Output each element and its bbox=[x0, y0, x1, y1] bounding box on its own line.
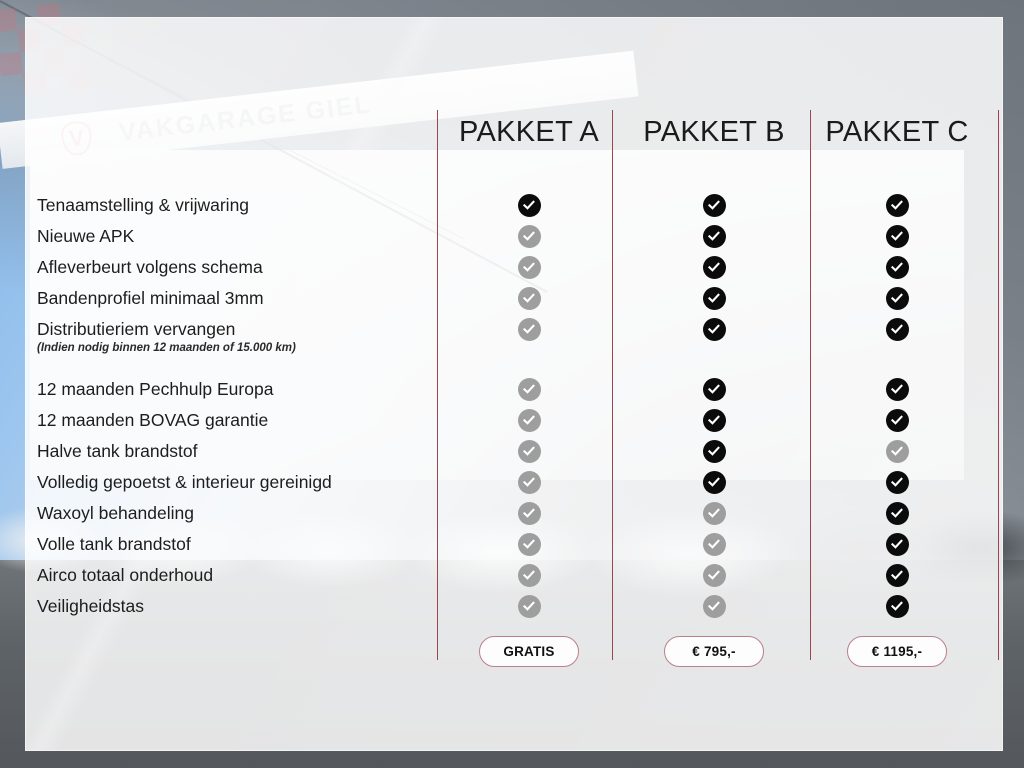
check-pakket-b-12-maanden-bovag-garantie bbox=[703, 409, 726, 432]
check-pakket-c-airco-totaal-onderhoud bbox=[886, 564, 909, 587]
check-pakket-b-12-maanden-pechhulp-europa bbox=[703, 378, 726, 401]
check-pakket-c-12-maanden-bovag-garantie bbox=[886, 409, 909, 432]
check-pakket-b-distributieriem-vervangen bbox=[703, 318, 726, 341]
feature-label-12-maanden-bovag-garantie: 12 maanden BOVAG garantie bbox=[37, 412, 268, 430]
check-pakket-c-12-maanden-pechhulp-europa bbox=[886, 378, 909, 401]
check-pakket-a-veiligheidstas bbox=[518, 595, 541, 618]
check-pakket-b-bandenprofiel-minimaal-3mm bbox=[703, 287, 726, 310]
check-pakket-b-volledig-gepoetst-en-interieur-ger bbox=[703, 471, 726, 494]
check-pakket-c-nieuwe-apk bbox=[886, 225, 909, 248]
check-pakket-c-afleverbeurt-volgens-schema bbox=[886, 256, 909, 279]
check-pakket-a-waxoyl-behandeling bbox=[518, 502, 541, 525]
check-pakket-a-afleverbeurt-volgens-schema bbox=[518, 256, 541, 279]
check-pakket-a-12-maanden-bovag-garantie bbox=[518, 409, 541, 432]
check-pakket-a-bandenprofiel-minimaal-3mm bbox=[518, 287, 541, 310]
feature-label-halve-tank-brandstof: Halve tank brandstof bbox=[37, 443, 198, 461]
check-pakket-a-distributieriem-vervangen bbox=[518, 318, 541, 341]
check-pakket-a-volle-tank-brandstof bbox=[518, 533, 541, 556]
feature-label-bandenprofiel-minimaal-3mm: Bandenprofiel minimaal 3mm bbox=[37, 290, 264, 308]
check-pakket-c-waxoyl-behandeling bbox=[886, 502, 909, 525]
check-pakket-c-tenaamstelling-en-vrijwaring bbox=[886, 194, 909, 217]
feature-label-airco-totaal-onderhoud: Airco totaal onderhoud bbox=[37, 567, 213, 585]
column-header-pakket-c: PAKKET C bbox=[809, 116, 985, 149]
feature-label-nieuwe-apk: Nieuwe APK bbox=[37, 228, 134, 246]
feature-label-volle-tank-brandstof: Volle tank brandstof bbox=[37, 536, 191, 554]
check-pakket-c-volle-tank-brandstof bbox=[886, 533, 909, 556]
check-pakket-b-halve-tank-brandstof bbox=[703, 440, 726, 463]
feature-label-distributieriem-vervangen: Distributieriem vervangen bbox=[37, 321, 235, 339]
price-badge-pakket-c[interactable]: € 1195,- bbox=[847, 636, 947, 667]
comparison-card: PAKKET APAKKET BPAKKET CTenaamstelling &… bbox=[25, 17, 1003, 751]
check-pakket-c-veiligheidstas bbox=[886, 595, 909, 618]
column-divider-4 bbox=[998, 110, 999, 660]
column-header-pakket-b: PAKKET B bbox=[626, 116, 802, 149]
check-pakket-b-afleverbeurt-volgens-schema bbox=[703, 256, 726, 279]
feature-note-distributieriem-vervangen: (Indien nodig binnen 12 maanden of 15.00… bbox=[37, 343, 296, 355]
check-pakket-a-nieuwe-apk bbox=[518, 225, 541, 248]
feature-label-waxoyl-behandeling: Waxoyl behandeling bbox=[37, 505, 194, 523]
check-pakket-c-volledig-gepoetst-en-interieur-ger bbox=[886, 471, 909, 494]
price-badge-pakket-b[interactable]: € 795,- bbox=[664, 636, 764, 667]
column-header-pakket-a: PAKKET A bbox=[441, 116, 617, 149]
check-pakket-a-12-maanden-pechhulp-europa bbox=[518, 378, 541, 401]
screenshot-root: VAKGARAGE GIEL PAKKET APAKKET BPAKKET CT… bbox=[0, 0, 1024, 768]
check-pakket-c-distributieriem-vervangen bbox=[886, 318, 909, 341]
check-pakket-b-tenaamstelling-en-vrijwaring bbox=[703, 194, 726, 217]
check-pakket-c-bandenprofiel-minimaal-3mm bbox=[886, 287, 909, 310]
feature-label-volledig-gepoetst-en-interieur-ger: Volledig gepoetst & interieur gereinigd bbox=[37, 474, 332, 492]
feature-label-afleverbeurt-volgens-schema: Afleverbeurt volgens schema bbox=[37, 259, 263, 277]
feature-label-12-maanden-pechhulp-europa: 12 maanden Pechhulp Europa bbox=[37, 381, 273, 399]
package-comparison-table: PAKKET APAKKET BPAKKET CTenaamstelling &… bbox=[26, 18, 1002, 750]
check-pakket-a-volledig-gepoetst-en-interieur-ger bbox=[518, 471, 541, 494]
check-pakket-b-veiligheidstas bbox=[703, 595, 726, 618]
price-badge-pakket-a[interactable]: GRATIS bbox=[479, 636, 579, 667]
check-pakket-a-halve-tank-brandstof bbox=[518, 440, 541, 463]
feature-label-tenaamstelling-en-vrijwaring: Tenaamstelling & vrijwaring bbox=[37, 197, 249, 215]
column-divider-3 bbox=[810, 110, 811, 660]
check-pakket-b-waxoyl-behandeling bbox=[703, 502, 726, 525]
check-pakket-b-nieuwe-apk bbox=[703, 225, 726, 248]
check-pakket-b-volle-tank-brandstof bbox=[703, 533, 726, 556]
column-divider-1 bbox=[437, 110, 438, 660]
column-divider-2 bbox=[612, 110, 613, 660]
check-pakket-c-halve-tank-brandstof bbox=[886, 440, 909, 463]
check-pakket-a-tenaamstelling-en-vrijwaring bbox=[518, 194, 541, 217]
feature-label-veiligheidstas: Veiligheidstas bbox=[37, 598, 144, 616]
check-pakket-a-airco-totaal-onderhoud bbox=[518, 564, 541, 587]
check-pakket-b-airco-totaal-onderhoud bbox=[703, 564, 726, 587]
